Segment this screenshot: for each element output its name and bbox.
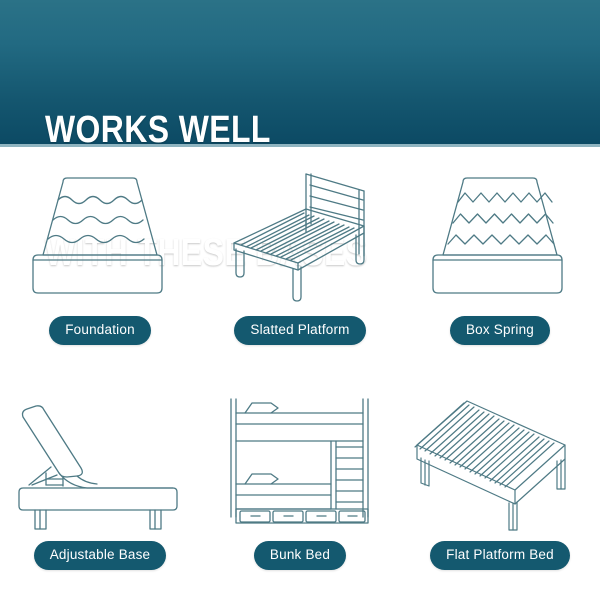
base-card-foundation[interactable]: Foundation bbox=[0, 150, 200, 375]
slatted-platform-bed-icon bbox=[205, 160, 395, 310]
base-card-bunk-bed[interactable]: Bunk Bed bbox=[200, 375, 400, 600]
box-spring-icon bbox=[405, 160, 595, 310]
base-label-box-spring: Box Spring bbox=[450, 316, 550, 345]
base-card-box-spring[interactable]: Box Spring bbox=[400, 150, 600, 375]
base-card-adjustable-base[interactable]: Adjustable Base bbox=[0, 375, 200, 600]
page-title-line-1: WORKS WELL bbox=[45, 110, 367, 151]
adjustable-base-icon bbox=[5, 389, 195, 539]
base-label-slatted-platform: Slatted Platform bbox=[234, 316, 365, 345]
base-label-adjustable-base: Adjustable Base bbox=[34, 541, 167, 570]
base-card-flat-platform-bed[interactable]: Flat Platform Bed bbox=[400, 375, 600, 600]
bases-grid: Foundation bbox=[0, 150, 600, 600]
bunk-bed-icon bbox=[205, 389, 395, 539]
base-label-bunk-bed: Bunk Bed bbox=[254, 541, 346, 570]
base-card-slatted-platform[interactable]: Slatted Platform bbox=[200, 150, 400, 375]
base-label-foundation: Foundation bbox=[49, 316, 151, 345]
flat-platform-bed-icon bbox=[405, 389, 595, 539]
base-label-flat-platform-bed: Flat Platform Bed bbox=[430, 541, 570, 570]
foundation-mattress-icon bbox=[5, 160, 195, 310]
